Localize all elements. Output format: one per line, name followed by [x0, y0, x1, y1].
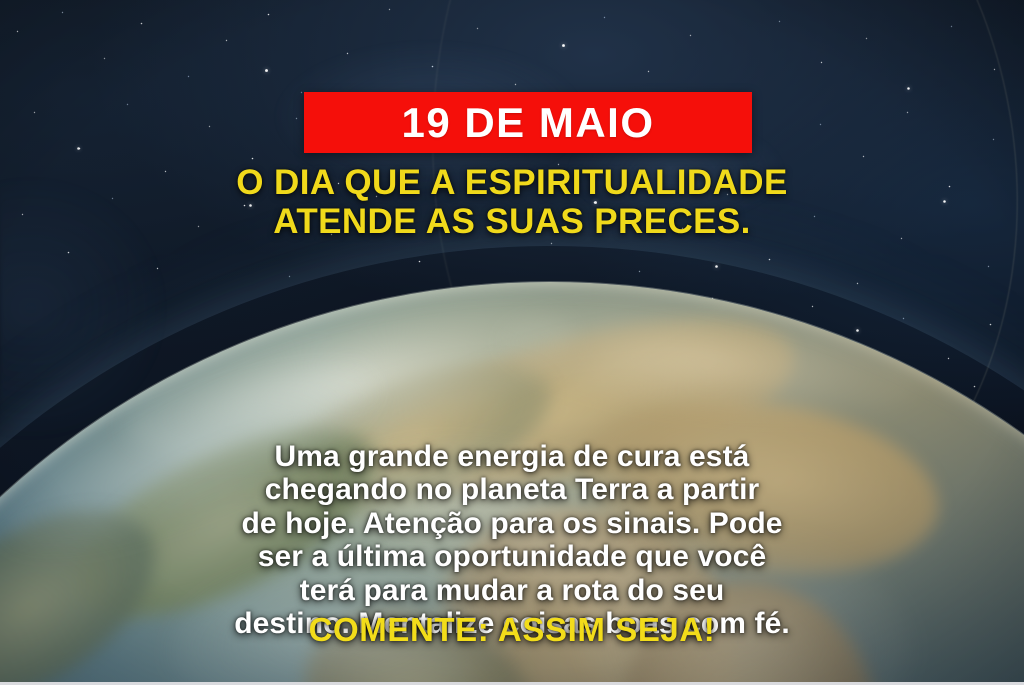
body-line-2: chegando no planeta Terra a partir [0, 473, 1024, 506]
body-line-1: Uma grande energia de cura está [0, 440, 1024, 473]
date-banner: 19 DE MAIO [304, 92, 752, 153]
body-line-5: terá para mudar a rota do seu [0, 574, 1024, 607]
headline-line-1: O DIA QUE A ESPIRITUALIDADE [0, 164, 1024, 203]
body-line-4: ser a última oportunidade que você [0, 540, 1024, 573]
headline-line-2: ATENDE AS SUAS PRECES. [0, 203, 1024, 242]
text-content-layer: 19 DE MAIO O DIA QUE A ESPIRITUALIDADE A… [0, 0, 1024, 685]
poster-canvas: 19 DE MAIO O DIA QUE A ESPIRITUALIDADE A… [0, 0, 1024, 685]
date-banner-text: 19 DE MAIO [401, 102, 654, 144]
call-to-action-text: COMENTE: ASSIM SEJA! [0, 613, 1024, 646]
body-line-3: de hoje. Atenção para os sinais. Pode [0, 507, 1024, 540]
headline: O DIA QUE A ESPIRITUALIDADE ATENDE AS SU… [0, 164, 1024, 241]
